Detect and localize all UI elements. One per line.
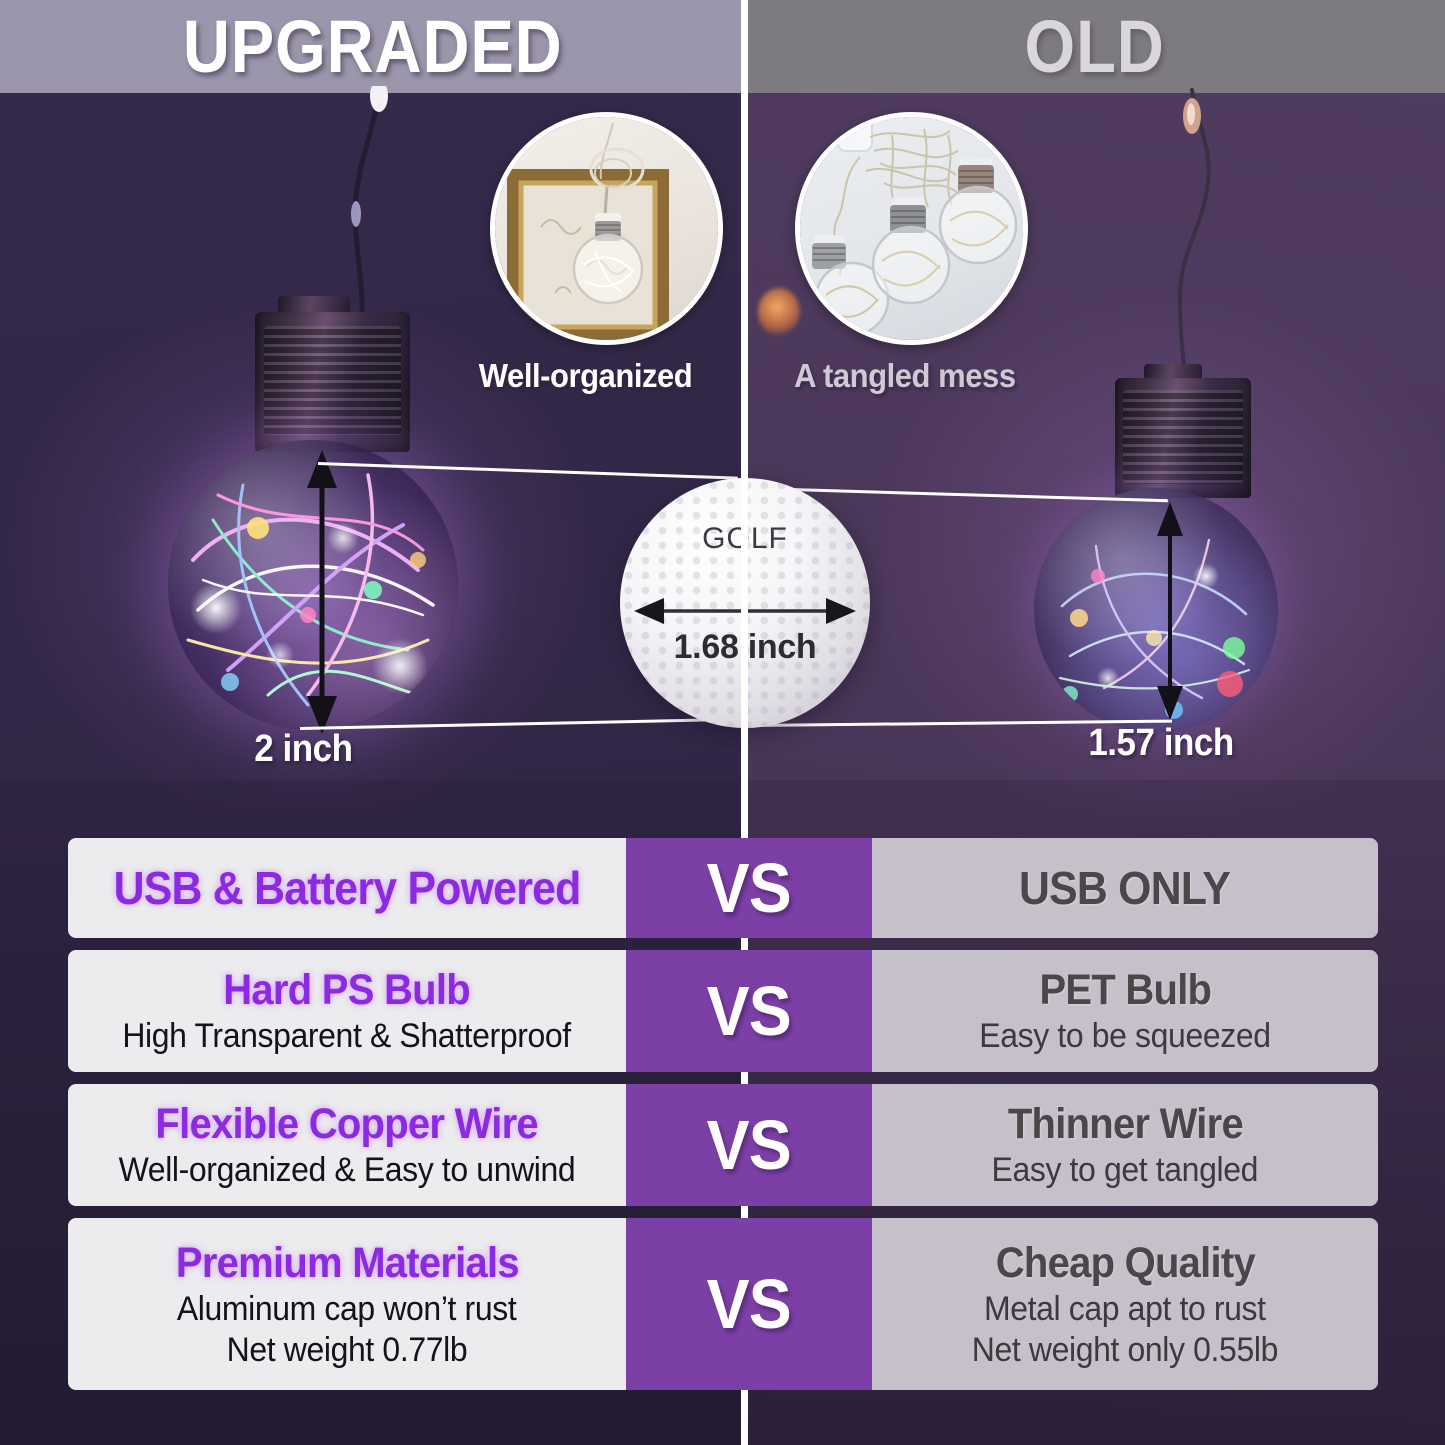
- row-1-vs-cell: VS: [626, 838, 872, 938]
- row-4-upgraded-title: Premium Materials: [176, 1239, 519, 1288]
- row-1-old-title: USB ONLY: [1019, 861, 1230, 915]
- header-upgraded: UPGRADED: [0, 0, 745, 93]
- row-4-old-sub: Metal cap apt to rust: [984, 1290, 1266, 1329]
- row-4-old-sub2: Net weight only 0.55lb: [972, 1331, 1278, 1370]
- row-4-upgraded-sub2: Net weight 0.77lb: [227, 1331, 468, 1370]
- dimension-arrow-left: [300, 448, 344, 736]
- inset-caption-tangled-mess: A tangled mess: [794, 357, 1016, 395]
- row-3-old-cell: Thinner Wire Easy to get tangled: [872, 1084, 1378, 1206]
- row-2-upgraded-sub: High Transparent & Shatterproof: [123, 1017, 571, 1056]
- row-2-old-title: PET Bulb: [1039, 966, 1211, 1015]
- table-row: USB & Battery Powered VS USB ONLY: [68, 838, 1378, 938]
- row-2-vs-cell: VS: [626, 950, 872, 1072]
- dimension-label-left: 2 inch: [254, 728, 352, 771]
- row-1-upgraded-cell: USB & Battery Powered: [68, 838, 626, 938]
- bokeh-light: [758, 288, 800, 336]
- row-4-old-title: Cheap Quality: [995, 1239, 1254, 1288]
- infographic-canvas: UPGRADED OLD: [0, 0, 1445, 1445]
- row-1-old-cell: USB ONLY: [872, 838, 1378, 938]
- row-4-upgraded-sub: Aluminum cap won’t rust: [177, 1290, 517, 1329]
- row-2-old-sub: Easy to be squeezed: [979, 1017, 1270, 1056]
- row-3-upgraded-cell: Flexible Copper Wire Well-organized & Ea…: [68, 1084, 626, 1206]
- row-1-upgraded-title: USB & Battery Powered: [114, 861, 581, 915]
- dimension-label-right: 1.57 inch: [1088, 722, 1233, 765]
- row-3-vs-cell: VS: [626, 1084, 872, 1206]
- header-upgraded-label: UPGRADED: [183, 4, 563, 89]
- inset-caption-well-organized: Well-organized: [479, 357, 692, 395]
- row-2-old-cell: PET Bulb Easy to be squeezed: [872, 950, 1378, 1072]
- row-4-upgraded-cell: Premium Materials Aluminum cap won’t rus…: [68, 1218, 626, 1390]
- inset-photo-well-organized: [490, 112, 723, 345]
- inset-photo-tangled-mess: [795, 112, 1028, 345]
- header-old-label: OLD: [1025, 4, 1165, 89]
- row-2-upgraded-title: Hard PS Bulb: [224, 966, 471, 1015]
- dimension-arrow-right: [1150, 500, 1190, 722]
- vs-label: VS: [707, 848, 791, 928]
- row-3-upgraded-title: Flexible Copper Wire: [156, 1100, 539, 1149]
- row-4-old-cell: Cheap Quality Metal cap apt to rust Net …: [872, 1218, 1378, 1390]
- vs-label: VS: [707, 1105, 791, 1185]
- row-3-upgraded-sub: Well-organized & Easy to unwind: [119, 1151, 576, 1190]
- header-old: OLD: [745, 0, 1445, 93]
- row-3-old-title: Thinner Wire: [1007, 1100, 1242, 1149]
- row-4-vs-cell: VS: [626, 1218, 872, 1390]
- comparison-table: USB & Battery Powered VS USB ONLY Hard P…: [68, 838, 1378, 1390]
- row-3-old-sub: Easy to get tangled: [992, 1151, 1258, 1190]
- table-row: Hard PS Bulb High Transparent & Shatterp…: [68, 950, 1378, 1072]
- vs-label: VS: [707, 971, 791, 1051]
- row-2-upgraded-cell: Hard PS Bulb High Transparent & Shatterp…: [68, 950, 626, 1072]
- hanging-wire-right: [1130, 86, 1260, 406]
- table-row: Flexible Copper Wire Well-organized & Ea…: [68, 1084, 1378, 1206]
- vs-label: VS: [707, 1264, 791, 1344]
- table-row: Premium Materials Aluminum cap won’t rus…: [68, 1218, 1378, 1390]
